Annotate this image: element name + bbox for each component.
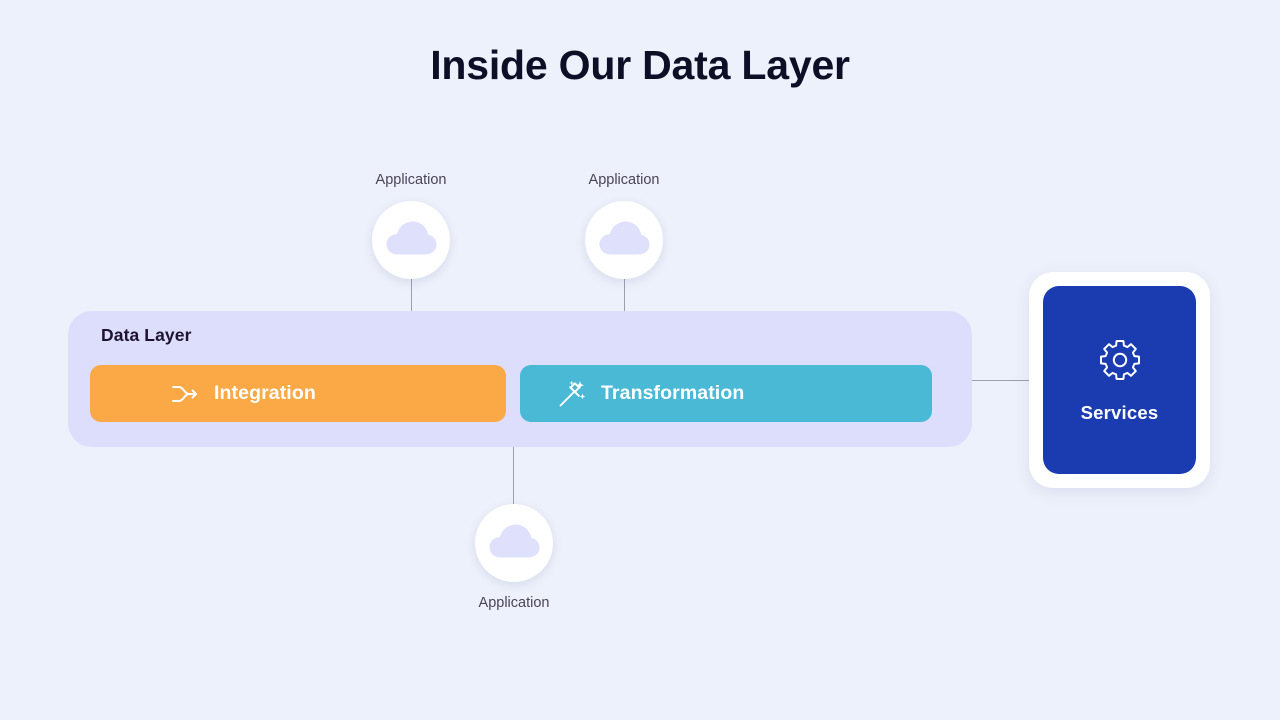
cloud-icon bbox=[487, 523, 541, 564]
services-card[interactable]: Services bbox=[1029, 272, 1210, 488]
gear-icon bbox=[1098, 337, 1142, 386]
application-node-3-label: Application bbox=[479, 593, 550, 613]
application-node-1-label: Application bbox=[376, 170, 447, 190]
application-node-1-circle bbox=[372, 201, 450, 279]
application-node-2-circle bbox=[585, 201, 663, 279]
cloud-icon bbox=[384, 220, 438, 261]
transformation-bar[interactable]: Transformation bbox=[520, 365, 932, 422]
merge-arrow-icon bbox=[172, 384, 198, 404]
application-node-3[interactable]: Application bbox=[446, 504, 582, 613]
application-node-3-circle bbox=[475, 504, 553, 582]
application-node-1[interactable]: Application bbox=[343, 170, 479, 279]
cloud-icon bbox=[597, 220, 651, 261]
services-card-label: Services bbox=[1081, 402, 1159, 424]
connector-services bbox=[972, 380, 1030, 381]
integration-bar-label: Integration bbox=[214, 382, 316, 405]
application-node-2-label: Application bbox=[589, 170, 660, 190]
data-layer-title: Data Layer bbox=[101, 325, 192, 346]
page-title: Inside Our Data Layer bbox=[0, 42, 1280, 89]
connector-application-1 bbox=[411, 275, 412, 314]
magic-wand-icon bbox=[558, 380, 586, 408]
diagram-canvas: Inside Our Data Layer Application Applic… bbox=[0, 0, 1280, 720]
application-node-2[interactable]: Application bbox=[556, 170, 692, 279]
transformation-bar-label: Transformation bbox=[601, 382, 744, 405]
integration-bar[interactable]: Integration bbox=[90, 365, 506, 422]
services-card-inner: Services bbox=[1043, 286, 1196, 474]
data-layer-panel: Data Layer Integration bbox=[68, 311, 972, 447]
connector-application-3 bbox=[513, 447, 514, 504]
connector-application-2 bbox=[624, 275, 625, 314]
